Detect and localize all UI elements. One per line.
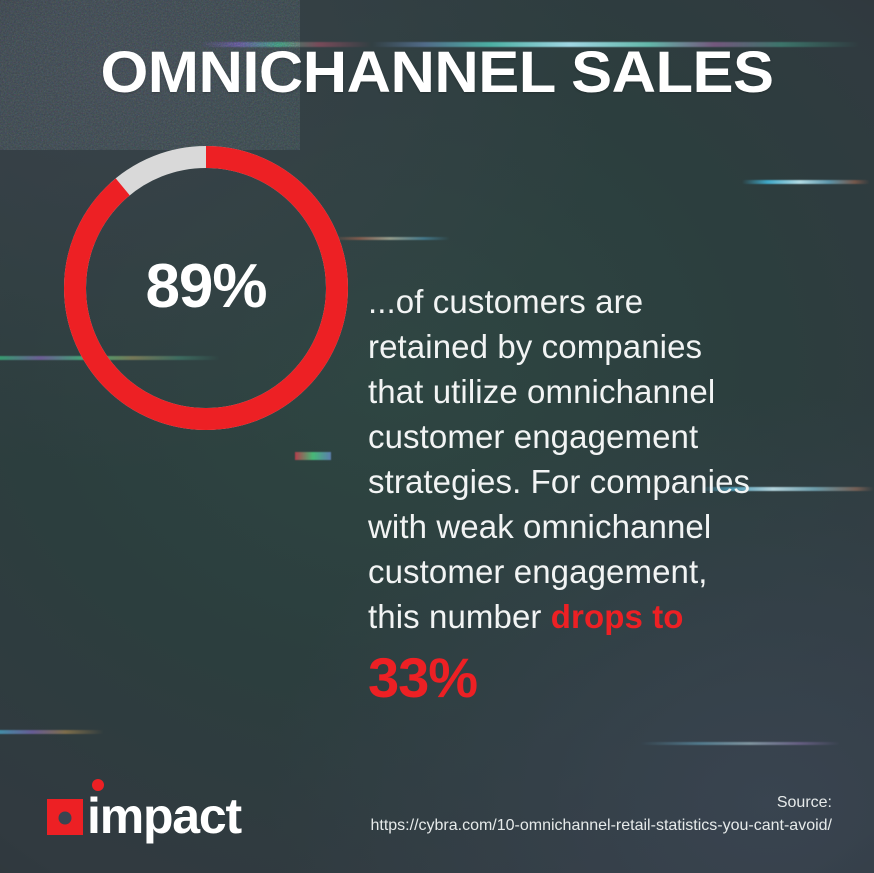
body-line-4: customer engagement — [368, 418, 698, 455]
donut-chart: 89% — [62, 144, 350, 432]
body-line-1: ...of customers are — [368, 283, 643, 320]
glitch-streak-bottom-right — [640, 742, 840, 745]
page-title: OMNICHANNEL SALES — [0, 44, 874, 102]
body-line-5: strategies. For companies — [368, 463, 750, 500]
body-line-2: retained by companies — [368, 328, 702, 365]
impact-logo-wordmark: impact — [87, 795, 241, 837]
drop-percentage-value: 33% — [368, 650, 477, 706]
source-label: Source: — [370, 791, 832, 814]
glitch-streak-right-upper — [742, 180, 870, 184]
body-line-7: customer engagement, — [368, 553, 708, 590]
logo-wordmark-text: impact — [87, 788, 241, 844]
impact-logo: impact — [47, 795, 241, 837]
logo-i-dot-icon — [92, 779, 104, 791]
glitch-streak-center — [295, 452, 331, 460]
infographic-poster: OMNICHANNEL SALES 89% ...of customers ar… — [0, 0, 874, 873]
body-line-8-plain: this number — [368, 598, 551, 635]
body-line-6: with weak omnichannel — [368, 508, 711, 545]
donut-center-value: 89% — [62, 251, 350, 322]
body-line-3: that utilize omnichannel — [368, 373, 715, 410]
body-paragraph: ...of customers are retained by companie… — [368, 279, 808, 639]
source-attribution: Source: https://cybra.com/10-omnichannel… — [370, 791, 832, 837]
drops-to-highlight: drops to — [551, 598, 684, 635]
impact-logo-mark-icon — [47, 799, 83, 835]
logo-mark-circle-icon — [59, 811, 72, 824]
source-url: https://cybra.com/10-omnichannel-retail-… — [370, 814, 832, 837]
glitch-streak-bottom-left — [0, 730, 104, 734]
